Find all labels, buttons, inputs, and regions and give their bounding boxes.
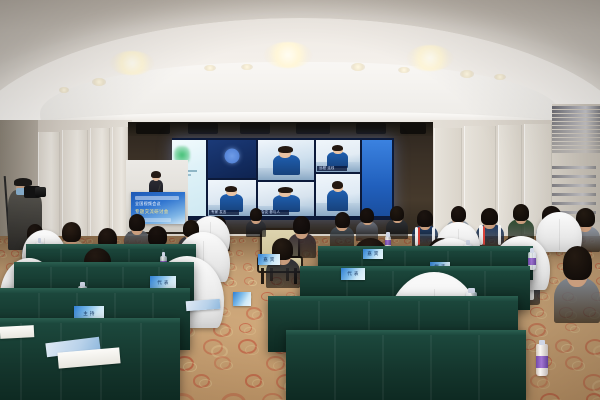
audience-member — [508, 204, 534, 240]
delegate-name-card — [233, 292, 251, 306]
table-top-surface — [268, 296, 518, 301]
table-top-surface — [300, 266, 530, 271]
carpet-motif — [535, 328, 548, 338]
armchair-leg — [261, 268, 264, 284]
banner-rule-top — [135, 196, 179, 200]
valance-box — [296, 123, 330, 134]
wall-slat — [552, 118, 600, 121]
camera-lens-icon — [35, 187, 46, 197]
wall-slat — [552, 106, 600, 109]
ceiling-recessed-light — [460, 70, 474, 78]
carpet-motif — [542, 294, 551, 301]
delegate-name-card: 嘉 宾 — [258, 254, 280, 265]
skirted-conference-table — [286, 330, 526, 400]
carpet-motif — [227, 280, 236, 287]
wall-slat — [552, 150, 600, 153]
participant-hair — [332, 145, 343, 151]
wall-slat — [552, 142, 600, 145]
carpet-motif — [561, 344, 574, 353]
wall-slat — [552, 146, 600, 149]
audience-hair — [417, 210, 433, 227]
audience-member — [554, 246, 600, 320]
photographer-cap — [14, 178, 32, 186]
wall-slat — [552, 202, 596, 205]
wall-slat — [552, 193, 596, 196]
audience-member — [356, 208, 378, 240]
valance-box — [188, 123, 218, 134]
audience-hair — [481, 208, 498, 225]
ceiling-downlight — [407, 45, 453, 70]
table-top-surface — [286, 330, 526, 335]
carpet-motif — [536, 311, 547, 319]
wall-slat — [552, 130, 600, 133]
table-skirt-fold — [382, 335, 384, 400]
name-card-text: 主 持 — [83, 311, 94, 317]
wall-slat — [552, 126, 600, 129]
ceiling-recessed-light — [59, 87, 69, 93]
carpet-motif — [183, 362, 197, 372]
table-top-surface — [0, 288, 190, 293]
water-bottle — [536, 340, 548, 376]
logo-tile[interactable] — [208, 140, 256, 178]
audience-hair — [513, 204, 529, 221]
wall-slat — [552, 134, 600, 137]
audience-member — [246, 208, 266, 236]
audience-hair — [390, 206, 404, 221]
wall-slat — [552, 175, 596, 178]
table-top-surface — [318, 246, 533, 251]
carpet-motif — [572, 361, 585, 371]
delegate-name-card: 代 表 — [341, 268, 365, 280]
audience-hair — [293, 216, 310, 234]
bottle-label — [528, 258, 536, 265]
participant-torso — [327, 190, 348, 211]
bottle-cap — [386, 232, 389, 237]
delegate-name-card: 嘉 宾 — [363, 249, 383, 259]
ceiling-recessed-light — [351, 63, 365, 71]
carpet-motif — [220, 361, 232, 370]
speaker-hair — [151, 171, 161, 178]
carpet-motif — [570, 326, 580, 333]
carpet-motif — [199, 379, 212, 388]
name-card-text: 代 表 — [157, 280, 168, 286]
valance-box — [356, 123, 386, 134]
carpet-motif — [537, 379, 550, 389]
name-card-text: 嘉 宾 — [367, 251, 378, 257]
ceiling-downlight — [264, 42, 312, 68]
carpet-motif — [592, 380, 600, 394]
bottle-cap — [539, 340, 546, 345]
table-skirt-fold — [334, 335, 336, 400]
bottle-cap — [530, 248, 534, 253]
name-card-text: 代 表 — [347, 271, 358, 277]
slatted-wall-feature — [552, 104, 600, 222]
bottle-cap — [38, 238, 42, 243]
participant-name-label: 专家 发言 — [209, 210, 239, 215]
podium-banner-title: 全国视频会议 — [135, 201, 161, 206]
participant-tile-4[interactable]: 远程 连线 — [316, 140, 360, 172]
participant-avatar-icon — [225, 148, 240, 163]
name-card-text: 嘉 宾 — [263, 257, 274, 263]
blank-panel-right[interactable] — [362, 140, 392, 216]
tracksuit-red-stripe — [483, 226, 485, 245]
table-top-surface — [0, 318, 180, 323]
participant-name-label: 远程 连线 — [317, 166, 347, 171]
bottle-cap — [162, 252, 166, 257]
carpet-motif — [273, 361, 287, 371]
participant-hair — [278, 187, 293, 193]
participant-tile-2[interactable] — [258, 140, 314, 180]
valance-box — [136, 123, 170, 134]
bottle-cap — [466, 240, 470, 245]
audience-hair — [563, 246, 592, 280]
carpet-motif — [244, 327, 255, 335]
audience-hair — [250, 208, 262, 221]
ceiling — [0, 0, 600, 138]
audience-hair — [360, 208, 374, 223]
ceiling-recessed-light — [92, 78, 106, 86]
participant-tile-5[interactable] — [316, 174, 360, 216]
carpet-motif — [252, 379, 264, 388]
wall-slat — [552, 138, 600, 141]
bottle-cap — [80, 282, 85, 287]
bottle-cap — [468, 288, 474, 293]
carpet-motif — [593, 345, 600, 358]
participant-tile-3[interactable]: 会议 参与人 — [258, 182, 314, 216]
table-skirt-fold — [140, 323, 142, 400]
valance-box — [240, 123, 270, 134]
wall-slat — [552, 122, 600, 125]
participant-hair — [225, 186, 237, 192]
valance-box — [400, 123, 426, 134]
wall-slat — [552, 110, 600, 113]
table-skirt-fold — [430, 335, 432, 400]
carpet-motif — [252, 311, 264, 320]
printed-handout — [0, 325, 34, 339]
audience-hair — [148, 226, 167, 246]
stage-valance — [128, 122, 433, 136]
wall-slat — [552, 184, 596, 187]
solid-panel — [362, 140, 392, 216]
carpet-motif — [221, 393, 246, 400]
bottle-label — [536, 356, 548, 368]
audience-hair — [62, 222, 81, 242]
participant-torso — [273, 155, 300, 175]
carpet-motif — [245, 345, 259, 355]
carpet-motif — [220, 327, 233, 337]
conference-room-photo: 专家 发言会议 参与人远程 连线 全国视频会议 专题交流研讨会 主 持代 表嘉 … — [0, 0, 600, 400]
participant-hair — [278, 146, 293, 153]
participant-hair — [332, 181, 343, 189]
wall-slat — [552, 114, 600, 117]
wall-slat — [552, 166, 596, 169]
audience-hair — [335, 212, 350, 228]
audience-hair — [451, 206, 466, 222]
table-skirt-fold — [478, 335, 480, 400]
wall-panel — [90, 128, 110, 244]
table-top-surface — [14, 262, 194, 267]
ceiling-downlight — [110, 51, 154, 75]
